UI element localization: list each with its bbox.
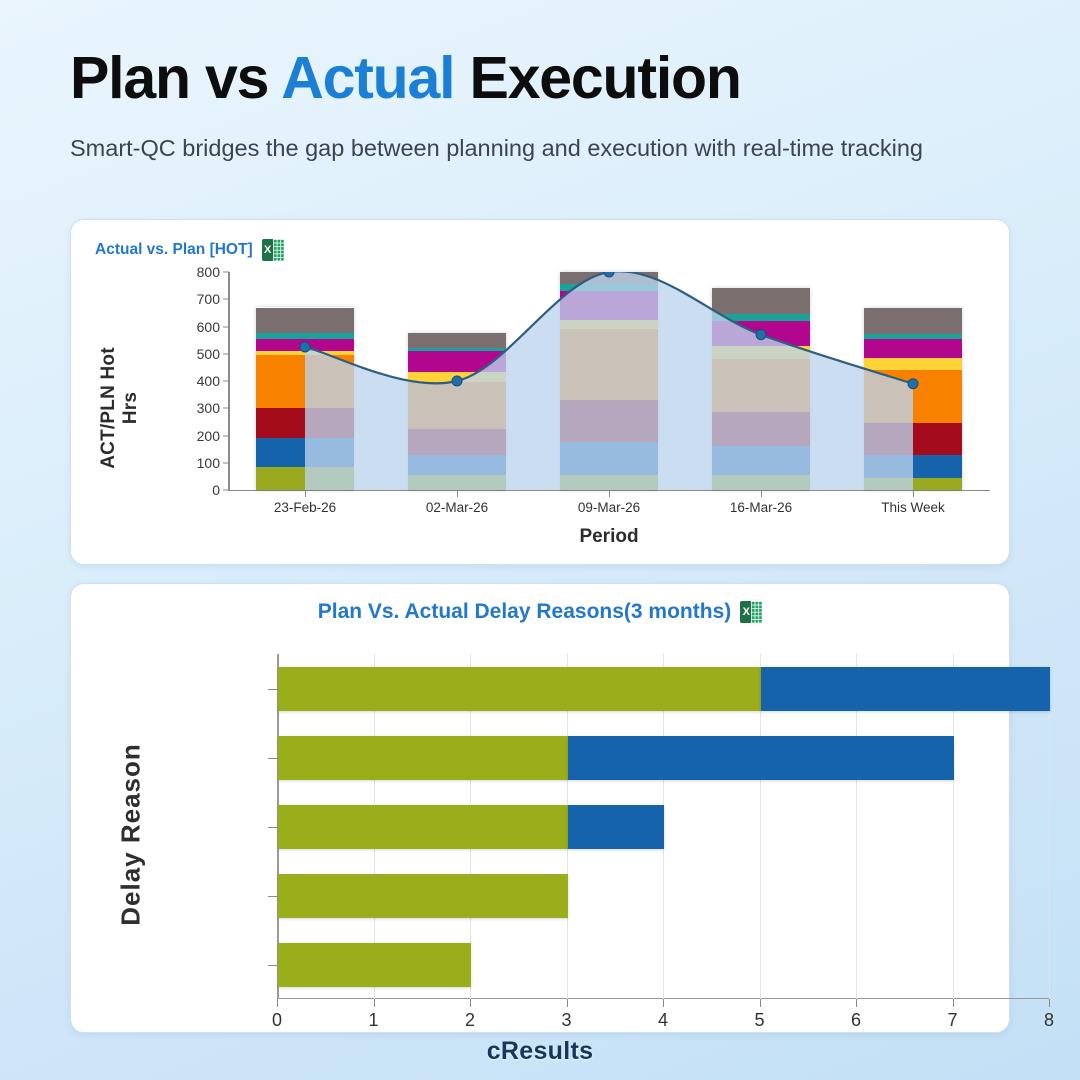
chart2-y-tick-mark <box>268 896 277 898</box>
chart1-bar-segment <box>408 429 506 455</box>
chart2-x-tick-mark <box>567 999 568 1007</box>
chart2-bar-segment <box>278 736 568 780</box>
page-subtitle: Smart-QC bridges the gap between plannin… <box>70 132 1000 165</box>
chart2-y-tick-mark <box>268 689 277 691</box>
chart2-x-tick-label: 5 <box>754 1010 764 1031</box>
chart1-bar-segment <box>560 284 658 291</box>
chart1-x-tick-labels: 23-Feb-2602-Mar-2609-Mar-2616-Mar-26This… <box>229 490 989 530</box>
chart2-x-tick-mark <box>760 999 761 1007</box>
chart1-bar-segment <box>256 339 354 350</box>
chart1-y-tick-mark <box>223 272 229 273</box>
chart-card-actual-vs-plan: Actual vs. Plan [HOT] X ACT/PLN Hot Hrs … <box>70 219 1010 565</box>
chart1-y-tick-label: 400 <box>197 373 220 389</box>
chart1-y-tick-mark <box>223 326 229 327</box>
chart1-y-tick-label: 600 <box>197 319 220 335</box>
chart-card-delay-reasons: Plan Vs. Actual Delay Reasons(3 months) … <box>70 583 1010 1033</box>
chart1-x-tick-label: 16-Mar-26 <box>730 500 792 515</box>
chart1-y-tick-label: 800 <box>197 264 220 280</box>
footer-brand: cResults <box>0 1037 1080 1066</box>
chart2-y-axis-label: Delay Reason <box>116 743 147 926</box>
chart2-bar-segment <box>278 943 471 987</box>
excel-icon-grid <box>751 601 762 623</box>
chart1-bar-segment <box>256 333 354 340</box>
chart1-x-axis-label: Period <box>229 526 989 548</box>
chart1-bar-segment <box>712 475 810 490</box>
chart1-bar-segment <box>864 370 962 423</box>
chart2-x-tick-mark <box>663 999 664 1007</box>
chart2-bar-row[interactable] <box>278 736 954 780</box>
chart1-bar-segment <box>560 442 658 475</box>
chart1-bar-segment <box>712 288 810 314</box>
chart1-bar-segment <box>408 455 506 475</box>
chart2-title-row: Plan Vs. Actual Delay Reasons(3 months) … <box>71 600 1009 624</box>
chart2-bar-segment <box>278 874 568 918</box>
chart1-bar-segment <box>712 446 810 475</box>
chart2-bar-segment <box>568 736 954 780</box>
chart2-bar-row[interactable] <box>278 667 1050 711</box>
chart1-bar-segment <box>560 320 658 330</box>
chart2-x-tick-mark <box>953 999 954 1007</box>
chart1-y-tick-mark <box>223 381 229 382</box>
chart1-stacked-bar[interactable] <box>256 307 354 490</box>
chart1-bar-segment <box>560 329 658 400</box>
excel-icon[interactable]: X <box>740 600 762 624</box>
chart1-bar-segment <box>560 400 658 442</box>
chart1-x-tick-mark <box>609 490 610 497</box>
chart1-x-tick-label: 09-Mar-26 <box>578 500 640 515</box>
chart2-x-tick-mark <box>856 999 857 1007</box>
chart2-y-tick-mark <box>268 965 277 967</box>
chart2-bar-segment <box>761 667 1051 711</box>
chart2-x-tick-mark <box>374 999 375 1007</box>
chart2-y-tick-mark <box>268 758 277 760</box>
chart2-x-tick-label: 8 <box>1044 1010 1054 1031</box>
page-title: Plan vs Actual Execution <box>70 48 1010 110</box>
chart2-x-tick-mark <box>470 999 471 1007</box>
chart2-x-tick-label: 2 <box>465 1010 475 1031</box>
chart1-bar-segment <box>560 475 658 490</box>
chart1-bar-segment <box>864 358 962 370</box>
chart1-bar-segment <box>864 308 962 334</box>
chart1-y-tick-mark <box>223 299 229 300</box>
chart1-x-tick-label: This Week <box>881 500 945 515</box>
chart1-y-tick-label: 700 <box>197 291 220 307</box>
chart1-bar-segment <box>256 308 354 333</box>
chart1-y-tick-label: 300 <box>197 400 220 416</box>
page-title-part2: Execution <box>454 45 740 111</box>
chart1-bar-segment <box>256 355 354 408</box>
page-title-part1: Plan vs <box>70 45 281 111</box>
chart1-y-tick-label: 100 <box>197 455 220 471</box>
chart2-x-tick-mark <box>1049 999 1050 1007</box>
chart1-x-tick-mark <box>761 490 762 497</box>
chart1-bar-segment <box>408 475 506 490</box>
chart1-bar-segment <box>560 291 658 320</box>
chart1-bar-segment <box>256 438 354 467</box>
chart1-stacked-bar[interactable] <box>560 272 658 490</box>
chart1-bar-segment <box>864 478 962 490</box>
chart2-x-tick-label: 4 <box>658 1010 668 1031</box>
chart2-bar-segment <box>568 805 665 849</box>
chart1-plot-area: ACT/PLN Hot Hrs 010020030040050060070080… <box>71 264 1011 566</box>
chart2-title: Plan Vs. Actual Delay Reasons(3 months) <box>318 600 732 624</box>
chart2-bar-row[interactable] <box>278 874 568 918</box>
chart1-bar-segment <box>712 314 810 321</box>
header: Plan vs Actual Execution Smart-QC bridge… <box>0 0 1080 165</box>
chart2-x-tick-label: 6 <box>851 1010 861 1031</box>
excel-icon[interactable]: X <box>262 238 284 262</box>
chart1-y-tick-label: 0 <box>212 482 220 498</box>
chart1-bar-segment <box>712 346 810 360</box>
chart1-bar-segment <box>408 372 506 383</box>
chart2-x-tick-label: 0 <box>272 1010 282 1031</box>
chart1-bar-segment <box>408 382 506 428</box>
chart2-x-tick-label: 7 <box>947 1010 957 1031</box>
chart1-bar-segment <box>408 333 506 348</box>
chart1-stacked-bar[interactable] <box>864 308 962 490</box>
excel-icon-grid <box>273 239 284 261</box>
chart2-x-tick-mark <box>277 999 278 1007</box>
chart1-bar-segment <box>408 351 506 371</box>
chart2-bar-segment <box>278 667 761 711</box>
chart1-x-tick-label: 02-Mar-26 <box>426 500 488 515</box>
chart1-bar-segment <box>256 467 354 490</box>
chart1-bar-segment <box>712 359 810 412</box>
chart1-title-row: Actual vs. Plan [HOT] X <box>95 238 284 262</box>
chart1-bar-segment <box>864 423 962 454</box>
chart2-x-tick-label: 1 <box>368 1010 378 1031</box>
chart1-stacked-bar[interactable] <box>408 333 506 490</box>
chart1-x-tick-mark <box>913 490 914 497</box>
chart1-bar-segment <box>712 412 810 446</box>
chart1-y-tick-label: 500 <box>197 346 220 362</box>
chart1-y-tick-mark <box>223 353 229 354</box>
chart1-bar-segment <box>712 321 810 346</box>
chart1-bar-segment <box>560 272 658 284</box>
chart1-y-tick-mark <box>223 462 229 463</box>
chart1-x-tick-mark <box>305 490 306 497</box>
chart2-x-tick-label: 3 <box>561 1010 571 1031</box>
chart1-title: Actual vs. Plan [HOT] <box>95 241 253 259</box>
chart1-bar-segment <box>864 339 962 358</box>
excel-icon-letter: X <box>262 239 274 261</box>
chart2-bar-row[interactable] <box>278 943 471 987</box>
chart1-y-tick-mark <box>223 408 229 409</box>
chart1-x-tick-mark <box>457 490 458 497</box>
chart2-bar-row[interactable] <box>278 805 664 849</box>
chart1-y-tick-mark <box>223 435 229 436</box>
chart2-y-tick-mark <box>268 827 277 829</box>
chart2-plot: 012345678 <box>277 654 1049 999</box>
chart1-stacked-bar[interactable] <box>712 288 810 490</box>
chart1-bar-segment <box>256 408 354 438</box>
chart1-y-axis-label: ACT/PLN Hot Hrs <box>98 333 142 483</box>
page-title-accent: Actual <box>281 45 454 111</box>
chart2-bar-segment <box>278 805 568 849</box>
footer: cResults <box>0 1037 1080 1066</box>
chart1-y-tick-label: 200 <box>197 428 220 444</box>
chart1-bar-segment <box>864 455 962 478</box>
chart1-plot: 0100200300400500600700800 <box>229 272 989 490</box>
chart1-x-tick-label: 23-Feb-26 <box>274 500 336 515</box>
